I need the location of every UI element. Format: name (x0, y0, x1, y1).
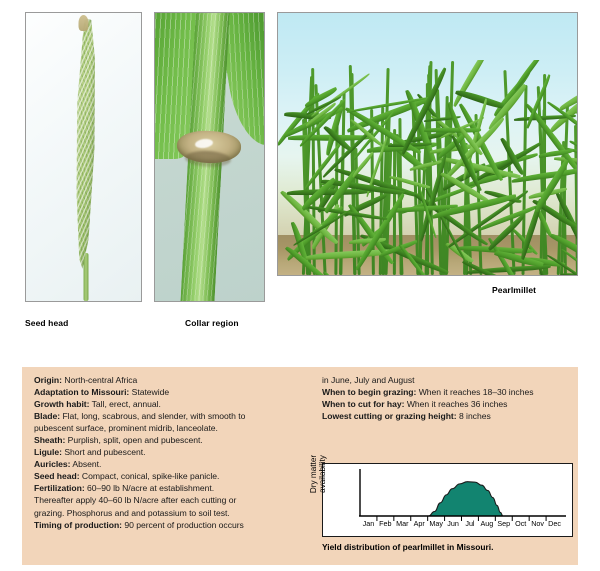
info-right-column: in June, July and AugustWhen to begin gr… (322, 374, 572, 422)
info-left-text-9: 60–90 lb N/acre at establishment. (85, 483, 214, 493)
info-left-label-8: Seed head: (34, 471, 80, 481)
info-left-label-6: Ligule: (34, 447, 62, 457)
chart-x-label-Oct: Oct (515, 519, 526, 528)
info-left-line-0: Origin: North-central Africa (34, 374, 318, 386)
info-left-text-7: Absent. (71, 459, 102, 469)
chart-svg: JanFebMarAprMayJunJulAugSepOctNovDec (323, 464, 572, 536)
info-left-text-1: Statewide (129, 387, 169, 397)
info-left-text-12: 90 percent of production occurs (122, 520, 244, 530)
info-left-line-5: Sheath: Purplish, split, open and pubesc… (34, 434, 318, 446)
info-left-label-12: Timing of production: (34, 520, 122, 530)
seed-head-tip (78, 15, 88, 31)
info-left-line-10: Thereafter apply 40–60 lb N/acre after e… (34, 494, 318, 506)
info-left-label-2: Growth habit: (34, 399, 89, 409)
info-right-line-2: When to cut for hay: When it reaches 36 … (322, 398, 572, 410)
info-left-line-4: pubescent surface, prominent midrib, lan… (34, 422, 318, 434)
info-left-line-11: grazing. Phosphorus and and potassium to… (34, 507, 318, 519)
info-right-text-1: When it reaches 18–30 inches (416, 387, 533, 397)
chart-area-series (429, 482, 503, 516)
chart-y-axis-label-line1: Dry matter (309, 455, 318, 493)
chart-x-label-Jan: Jan (363, 519, 375, 528)
chart-x-label-Jul: Jul (465, 519, 475, 528)
field-grass-leaf (287, 189, 372, 195)
info-left-text-6: Short and pubescent. (62, 447, 145, 457)
info-left-label-7: Auricles: (34, 459, 71, 469)
info-left-line-3: Blade: Flat, long, scabrous, and slender… (34, 410, 318, 422)
pearlmillet-field-photo (277, 12, 578, 276)
info-right-label-3: Lowest cutting or grazing height: (322, 411, 457, 421)
info-left-line-2: Growth habit: Tall, erect, annual. (34, 398, 318, 410)
chart-x-label-Dec: Dec (548, 519, 561, 528)
photo-row: Seed head Collar region Pearlmillet (0, 0, 600, 340)
info-left-line-12: Timing of production: 90 percent of prod… (34, 519, 318, 531)
chart-x-label-Nov: Nov (531, 519, 544, 528)
info-right-text-0: in June, July and August (322, 375, 414, 385)
info-right-label-1: When to begin grazing: (322, 387, 416, 397)
chart-x-label-Mar: Mar (396, 519, 409, 528)
info-left-text-5: Purplish, split, open and pubescent. (65, 435, 202, 445)
info-panel: Origin: North-central AfricaAdaptation t… (22, 367, 578, 565)
info-right-label-2: When to cut for hay: (322, 399, 404, 409)
info-left-line-6: Ligule: Short and pubescent. (34, 446, 318, 458)
info-left-label-0: Origin: (34, 375, 62, 385)
pearlmillet-caption: Pearlmillet (492, 285, 536, 295)
info-left-line-1: Adaptation to Missouri: Statewide (34, 386, 318, 398)
seed-head-caption: Seed head (25, 318, 68, 328)
info-left-label-1: Adaptation to Missouri: (34, 387, 129, 397)
collar-region-photo (154, 12, 265, 302)
info-right-text-2: When it reaches 36 inches (404, 399, 507, 409)
info-left-line-9: Fertilization: 60–90 lb N/acre at establ… (34, 482, 318, 494)
chart-x-label-May: May (429, 519, 443, 528)
field-canopy (278, 60, 577, 275)
info-left-line-8: Seed head: Compact, conical, spike-like … (34, 470, 318, 482)
info-right-line-1: When to begin grazing: When it reaches 1… (322, 386, 572, 398)
collar-region-caption: Collar region (185, 318, 239, 328)
chart-x-label-Feb: Feb (379, 519, 391, 528)
info-left-label-5: Sheath: (34, 435, 65, 445)
info-left-line-7: Auricles: Absent. (34, 458, 318, 470)
chart-caption: Yield distribution of pearlmillet in Mis… (322, 542, 493, 552)
info-left-text-3: Flat, long, scabrous, and slender, with … (60, 411, 245, 421)
info-right-line-0: in June, July and August (322, 374, 572, 386)
info-left-text-4: pubescent surface, prominent midrib, lan… (34, 423, 218, 433)
info-left-column: Origin: North-central AfricaAdaptation t… (34, 374, 318, 531)
info-left-text-8: Compact, conical, spike-like panicle. (80, 471, 220, 481)
info-right-text-3: 8 inches (457, 411, 491, 421)
info-left-text-2: Tall, erect, annual. (89, 399, 160, 409)
info-left-text-10: Thereafter apply 40–60 lb N/acre after e… (34, 495, 236, 505)
chart-x-label-Sep: Sep (497, 519, 510, 528)
info-left-label-3: Blade: (34, 411, 60, 421)
chart-x-label-Apr: Apr (414, 519, 426, 528)
info-left-text-0: North-central Africa (62, 375, 137, 385)
yield-distribution-chart: Dry matter availability JanFebMarAprMayJ… (322, 463, 573, 537)
seed-head-photo (25, 12, 142, 302)
info-right-line-3: Lowest cutting or grazing height: 8 inch… (322, 410, 572, 422)
chart-x-label-Jun: Jun (447, 519, 459, 528)
info-left-label-9: Fertilization: (34, 483, 85, 493)
chart-x-label-Aug: Aug (480, 519, 493, 528)
info-left-text-11: grazing. Phosphorus and and potassium to… (34, 508, 230, 518)
